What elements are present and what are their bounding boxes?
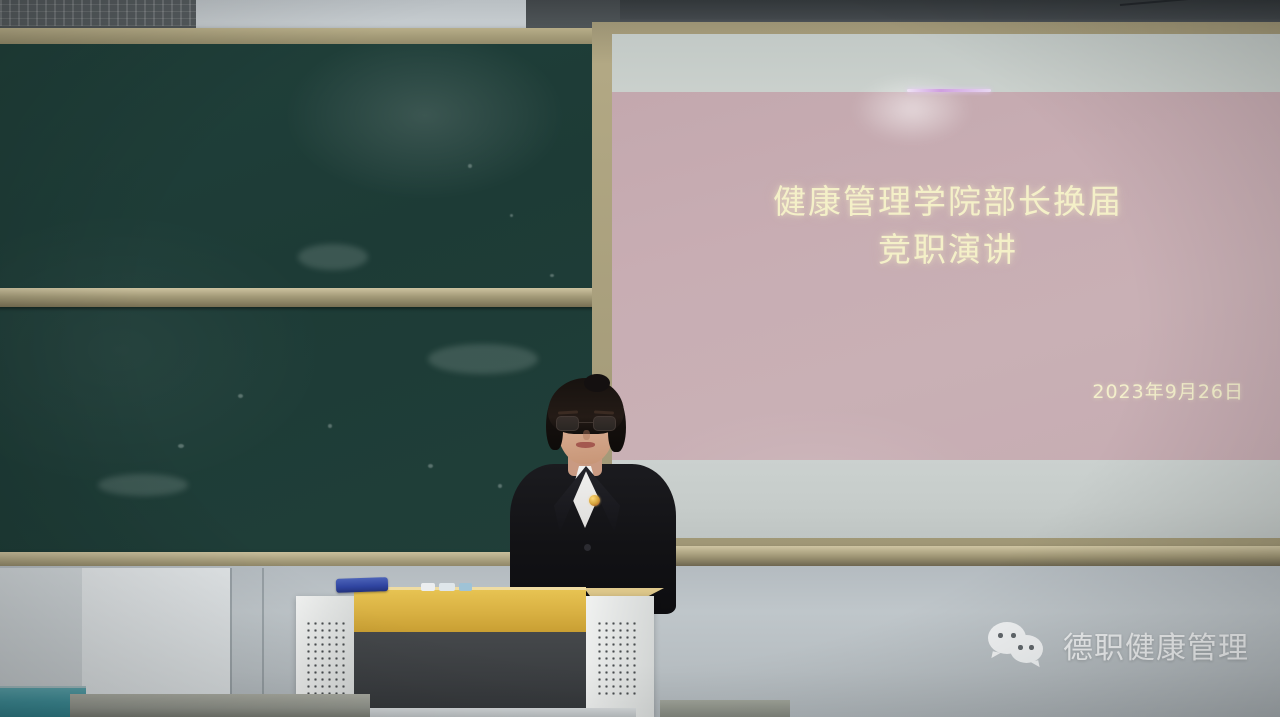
- slide-date: 2023年9月26日: [1092, 377, 1244, 404]
- wechat-watermark: 德职健康管理: [988, 622, 1249, 668]
- front-bench-right: [660, 700, 790, 717]
- presentation-slide: 健康管理学院部长换届 竞职演讲 2023年9月26日: [612, 92, 1280, 460]
- screen-bottom-band: [612, 460, 1280, 538]
- lower-wall-panel-left: [0, 568, 84, 688]
- podium-side-panel-right: [582, 596, 654, 717]
- blackboard-middle-rail: [0, 288, 614, 307]
- chalk-blue: [459, 583, 472, 591]
- wechat-eye-2: [1011, 633, 1016, 638]
- lens-right: [593, 416, 616, 431]
- photo-canvas: 健康管理学院部长换届 竞职演讲 2023年9月26日: [0, 0, 1280, 717]
- speaker: [498, 380, 684, 610]
- jacket-button: [584, 544, 591, 551]
- front-bench-left: [70, 694, 370, 717]
- chalk-white-a: [421, 583, 435, 591]
- wechat-account-name: 德职健康管理: [1063, 623, 1249, 667]
- wechat-eye-3: [1018, 645, 1023, 650]
- glasses: [556, 416, 616, 431]
- projection-screen-surface: 健康管理学院部长换届 竞职演讲 2023年9月26日: [612, 34, 1280, 538]
- podium-wood-band: [354, 590, 586, 632]
- chalk-white-b: [439, 583, 455, 591]
- lapel-badge-pin: [589, 495, 600, 506]
- lens-left: [556, 416, 579, 431]
- wechat-icon: [988, 622, 1050, 668]
- blackboard-eraser: [336, 577, 388, 593]
- slide-accent-line: [907, 89, 991, 92]
- ceiling-grid-panel: [0, 0, 200, 26]
- wechat-eye-4: [1029, 645, 1034, 650]
- podium-base: [336, 708, 636, 717]
- glasses-bridge: [579, 422, 593, 423]
- speaker-grille-left-icon: [305, 620, 349, 698]
- slide-title: 健康管理学院部长换届 竞职演讲: [612, 178, 1280, 274]
- hair-bun: [584, 374, 610, 392]
- wechat-eye-1: [998, 633, 1003, 638]
- projection-screen-frame: 健康管理学院部长换届 竞职演讲 2023年9月26日: [592, 22, 1280, 550]
- speaker-grille-right-icon: [596, 620, 640, 698]
- projector-hotspot: [852, 74, 972, 144]
- screen-bottom-rail: [592, 546, 1280, 566]
- mouth: [576, 442, 595, 448]
- nose: [583, 430, 590, 440]
- wechat-bubble-small: [1010, 635, 1043, 663]
- podium-front-panel: [354, 632, 586, 717]
